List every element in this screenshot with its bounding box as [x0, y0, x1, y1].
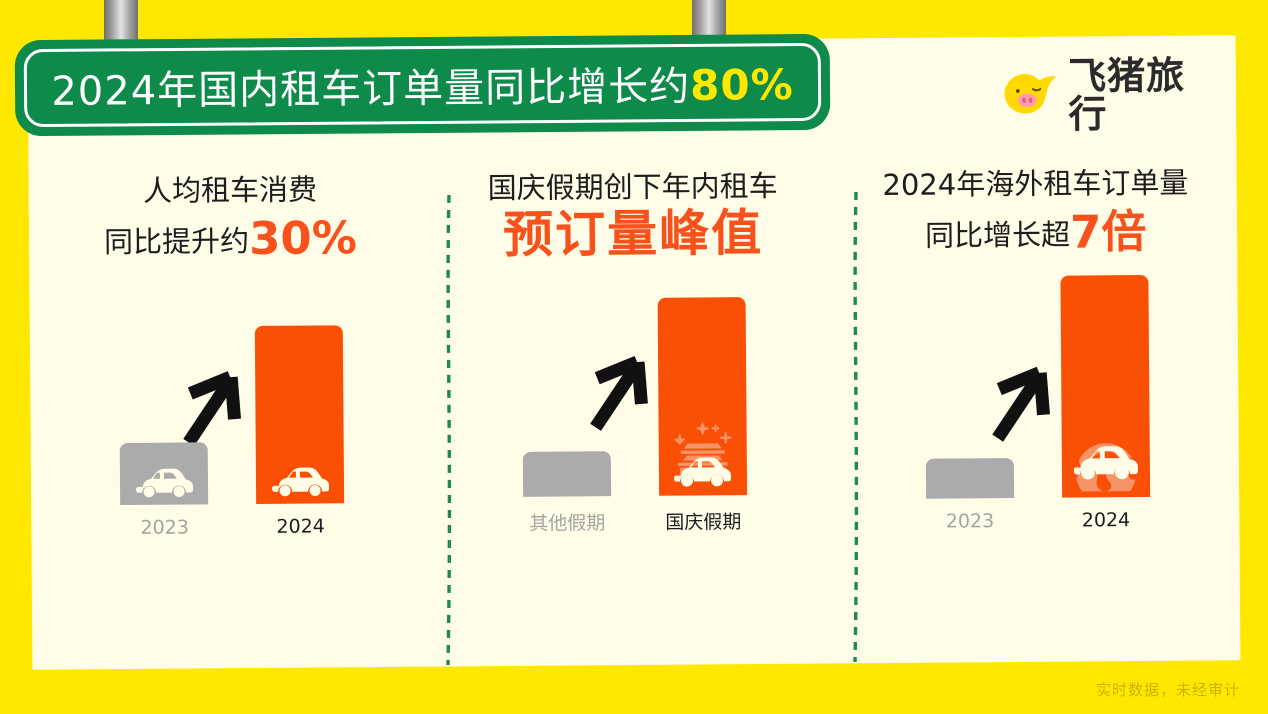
car-icon — [256, 463, 344, 498]
bar-2023 — [120, 442, 208, 505]
panel-1-chart: 2023 2024 — [29, 279, 434, 582]
panel-3-bars: 2023 — [835, 280, 1240, 533]
tiananmen-car-icon — [658, 405, 747, 490]
bar-national-day — [658, 297, 748, 496]
bar-column-2024: 2024 — [255, 325, 345, 538]
panel-2-chart: 其他假期 — [432, 275, 837, 578]
panel-1-headline: 人均租车消费 同比提升约30% — [29, 170, 432, 271]
pig-icon — [1000, 64, 1059, 126]
bar-label-other-holiday: 其他假期 — [523, 508, 611, 536]
banner-title: 2024年国内租车订单量同比增长约80% — [25, 53, 820, 117]
panel-1-headline-line2: 同比提升约30% — [29, 208, 432, 271]
bar-label-2024-overseas: 2024 — [1062, 509, 1150, 532]
bar-other-holiday — [523, 451, 611, 497]
brand-logo: 飞猪旅行 — [1000, 59, 1216, 131]
banner-title-prefix: 2024年国内租车订单量同比增长约 — [51, 64, 690, 115]
bar-column-2023: 2023 — [120, 442, 209, 539]
bar-column-2024-overseas: 2024 — [1060, 275, 1150, 532]
header-banner: 2024年国内租车订单量同比增长约80% — [15, 34, 831, 136]
car-icon — [120, 464, 208, 499]
panel-domestic-spend: 人均租车消费 同比提升约30% — [28, 42, 436, 670]
bar-2024 — [255, 325, 344, 504]
footer-note: 实时数据，未经审计 — [1096, 679, 1240, 700]
panel-national-day-peak: 国庆假期创下年内租车 预订量峰值 其他假期 — [430, 38, 838, 666]
bar-2023-overseas — [926, 458, 1014, 499]
panel-3-headline-highlight: 7倍 — [1070, 205, 1147, 259]
panel-2-bars: 其他假期 — [432, 283, 837, 536]
panel-3-headline-line1: 2024年海外租车订单量 — [834, 163, 1237, 204]
bar-2024-overseas — [1060, 275, 1150, 498]
panel-2-headline-big: 预订量峰值 — [432, 205, 835, 266]
panel-divider-2 — [853, 192, 859, 662]
panel-1-bars: 2023 2024 — [29, 287, 434, 540]
panel-3-chart: 2023 — [835, 272, 1240, 575]
bar-column-other-holiday: 其他假期 — [523, 451, 612, 536]
brand-name: 飞猪旅行 — [1068, 56, 1215, 133]
panel-1-headline-line1: 人均租车消费 — [29, 170, 432, 211]
panel-divider-1 — [446, 195, 452, 665]
bar-label-national-day: 国庆假期 — [659, 507, 747, 535]
panel-1-headline-prefix: 同比提升约 — [104, 224, 249, 259]
bar-label-2024: 2024 — [257, 515, 345, 538]
bar-label-2023-overseas: 2023 — [926, 510, 1014, 533]
panel-1-headline-highlight: 30% — [249, 211, 357, 265]
panel-3-headline: 2024年海外租车订单量 同比增长超7倍 — [834, 163, 1237, 264]
panel-3-headline-prefix: 同比增长超 — [925, 218, 1070, 253]
bar-label-2023: 2023 — [121, 516, 209, 539]
panel-2-headline-line1: 国庆假期创下年内租车 — [431, 166, 834, 207]
globe-car-icon — [1061, 411, 1150, 492]
banner-title-highlight: 80% — [690, 60, 794, 110]
bar-column-national-day: 国庆假期 — [658, 297, 748, 535]
panel-2-headline: 国庆假期创下年内租车 预订量峰值 — [431, 166, 834, 265]
panel-3-headline-line2: 同比增长超7倍 — [834, 202, 1237, 265]
bar-column-2023-overseas: 2023 — [926, 458, 1015, 533]
